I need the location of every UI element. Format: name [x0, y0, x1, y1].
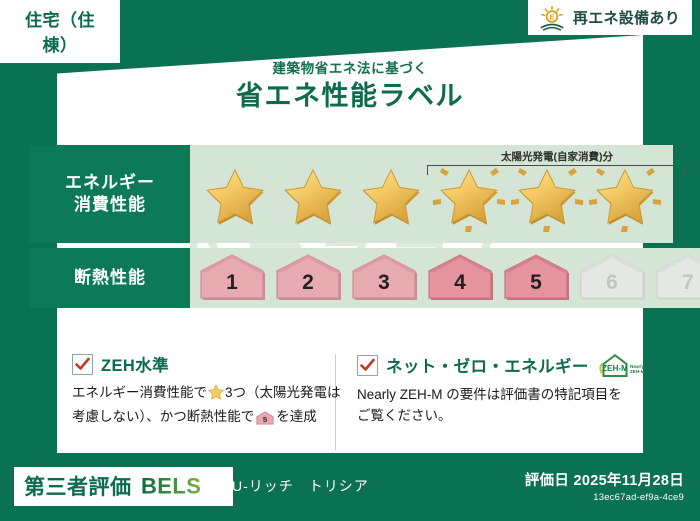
- svg-text:ZEH-M: ZEH-M: [630, 369, 645, 374]
- energy-star-area: 太陽光発電(自家消費)分: [190, 145, 673, 243]
- checkbox-checked-icon: [72, 354, 93, 375]
- svg-text:5: 5: [530, 271, 542, 294]
- svg-text:5: 5: [263, 415, 268, 424]
- note-net-zero-energy: ネット・ゼロ・エネルギー ZEH-M Nearly ZEH-M Nearly Z…: [357, 352, 632, 432]
- insulation-level-5: 5: [502, 254, 574, 302]
- insulation-performance-row: 断熱性能 1234567: [30, 248, 673, 308]
- zeh-body-stars: 3つ: [225, 385, 246, 400]
- note-nze-title: ネット・ゼロ・エネルギー: [386, 353, 589, 377]
- bels-logo: BELS: [141, 475, 223, 498]
- criteria-notes: ZEH水準 エネルギー消費性能で3つ（太陽光発電は考慮しない）、かつ断熱性能で5…: [72, 352, 632, 432]
- insulation-level-7: 7: [654, 254, 700, 302]
- third-party-evaluation-label: 第三者評価: [24, 471, 132, 501]
- evaluation-id: 13ec67ad-ef9a-4ce9: [525, 492, 684, 503]
- zeh-body-part3: を達成: [276, 409, 317, 424]
- insulation-level-1: 1: [198, 254, 270, 302]
- inline-star-icon: [208, 384, 224, 407]
- star-2: [274, 156, 352, 232]
- note-zeh-title: ZEH水準: [101, 352, 169, 376]
- note-nze-header: ネット・ゼロ・エネルギー ZEH-M Nearly ZEH-M: [357, 352, 632, 378]
- solar-sun-icon: E: [538, 5, 566, 31]
- star-6: [586, 156, 664, 232]
- svg-text:1: 1: [226, 271, 238, 294]
- insulation-label-text: 断熱性能: [74, 267, 146, 289]
- renewable-equipment-badge: E 再エネ設備あり: [528, 0, 692, 35]
- note-zeh-standard: ZEH水準 エネルギー消費性能で3つ（太陽光発電は考慮しない）、かつ断熱性能で5…: [72, 352, 347, 432]
- star-rating: [190, 156, 664, 232]
- star-3: [352, 156, 430, 232]
- star-5: [508, 156, 586, 232]
- energy-performance-label: ハウスコム 住宅（住棟） E 再エネ設備あり 建築物省エネ法に基づく: [0, 0, 700, 521]
- insulation-level-3: 3: [350, 254, 422, 302]
- svg-text:6: 6: [606, 271, 618, 294]
- note-zeh-body: エネルギー消費性能で3つ（太陽光発電は考慮しない）、かつ断熱性能で5を達成: [72, 383, 347, 432]
- evaluation-date: 評価日 2025年11月28日: [525, 469, 684, 490]
- zeh-body-part1: エネルギー消費性能で: [72, 385, 207, 400]
- insulation-level-2: 2: [274, 254, 346, 302]
- svg-text:7: 7: [682, 271, 694, 294]
- insulation-level-scale: 1234567: [190, 254, 700, 302]
- insulation-level-6: 6: [578, 254, 650, 302]
- svg-text:E: E: [549, 12, 554, 21]
- svg-text:3: 3: [378, 271, 390, 294]
- star-4: [430, 156, 508, 232]
- svg-text:4: 4: [454, 271, 466, 294]
- building-type-tag: 住宅（住棟）: [0, 0, 120, 63]
- energy-performance-row: エネルギー 消費性能 太陽光発電(自家消費)分: [30, 145, 673, 243]
- insulation-level-4: 4: [426, 254, 498, 302]
- energy-label-line2: 消費性能: [74, 194, 146, 216]
- project-name: U-リッチ トリシア: [232, 476, 369, 496]
- bels-certification-mark: 第三者評価 BELS: [14, 467, 233, 506]
- performance-rows: エネルギー 消費性能 太陽光発電(自家消費)分 断熱性能: [30, 145, 673, 308]
- svg-text:ZEH-M: ZEH-M: [602, 364, 628, 373]
- energy-performance-label: エネルギー 消費性能: [30, 145, 190, 243]
- energy-label-line1: エネルギー: [65, 172, 155, 194]
- svg-text:2: 2: [302, 271, 314, 294]
- label-footer: 第三者評価 BELS U-リッチ トリシア 評価日 2025年11月28日 1: [0, 463, 700, 521]
- renewable-badge-label: 再エネ設備あり: [573, 7, 680, 28]
- inline-house-level-icon: 5: [256, 411, 274, 432]
- evaluation-date-block: 評価日 2025年11月28日 13ec67ad-ef9a-4ce9: [525, 469, 684, 503]
- insulation-performance-label: 断熱性能: [30, 248, 190, 308]
- note-nze-body: Nearly ZEH-M の要件は評価書の特記項目をご覧ください。: [357, 385, 632, 427]
- insulation-level-area: 1234567: [190, 248, 700, 308]
- zeh-m-house-logo-icon: ZEH-M Nearly ZEH-M: [599, 352, 651, 378]
- svg-text:BELS: BELS: [141, 475, 201, 498]
- star-1: [196, 156, 274, 232]
- checkbox-checked-icon: [357, 355, 378, 376]
- note-zeh-header: ZEH水準: [72, 352, 347, 376]
